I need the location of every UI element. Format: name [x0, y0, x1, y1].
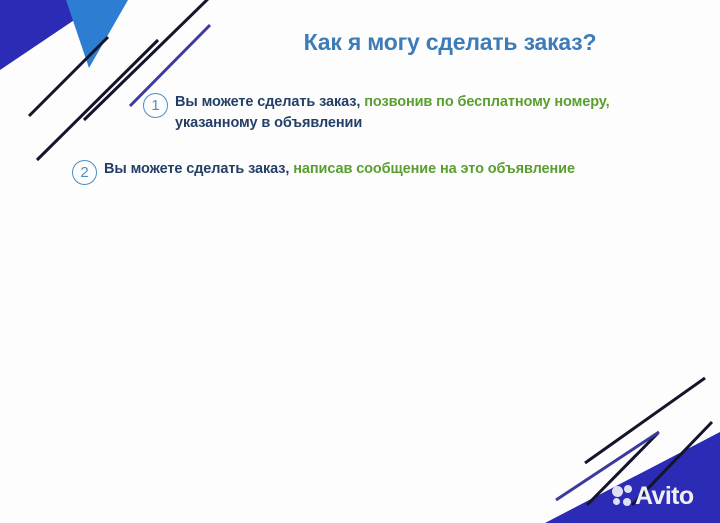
list-item-line: указанному в объявлении [175, 113, 610, 134]
avito-watermark: Avito [612, 484, 694, 509]
page-title: Как я могу сделать заказ? [0, 29, 720, 56]
infographic-canvas: Как я могу сделать заказ? 1 Вы можете сд… [0, 0, 720, 523]
avito-logo-dot [613, 498, 620, 505]
text-segment-navy: Вы можете сделать заказ, [104, 161, 293, 177]
list-item-marker-1: 1 [143, 93, 168, 118]
avito-wordmark: Avito [635, 484, 694, 509]
list-item-line: Вы можете сделать заказ, позвонив по бес… [175, 92, 610, 113]
text-segment-green: написав сообщение на это объявление [293, 161, 575, 177]
text-segment-navy: указанному в объявлении [175, 115, 362, 131]
text-segment-navy: Вы можете сделать заказ, [175, 94, 364, 110]
list-item: 1 Вы можете сделать заказ, позвонив по б… [143, 92, 610, 134]
list-item: 2 Вы можете сделать заказ, написав сообщ… [72, 159, 575, 185]
avito-logo-dot [612, 486, 623, 497]
avito-logo-icon [612, 485, 634, 509]
avito-logo-dot [623, 498, 631, 506]
deco-line-bottom-1 [585, 378, 705, 463]
list-item-text-2: Вы можете сделать заказ, написав сообщен… [104, 159, 575, 180]
avito-logo-dot [624, 485, 632, 493]
list-item-text-1: Вы можете сделать заказ, позвонив по бес… [175, 92, 610, 134]
list-item-marker-2: 2 [72, 160, 97, 185]
decorative-shapes-layer [0, 0, 720, 523]
deco-line-top-1 [37, 40, 158, 160]
list-item-line: Вы можете сделать заказ, написав сообщен… [104, 159, 575, 180]
text-segment-green: позвонив по бесплатному номеру, [364, 94, 609, 110]
